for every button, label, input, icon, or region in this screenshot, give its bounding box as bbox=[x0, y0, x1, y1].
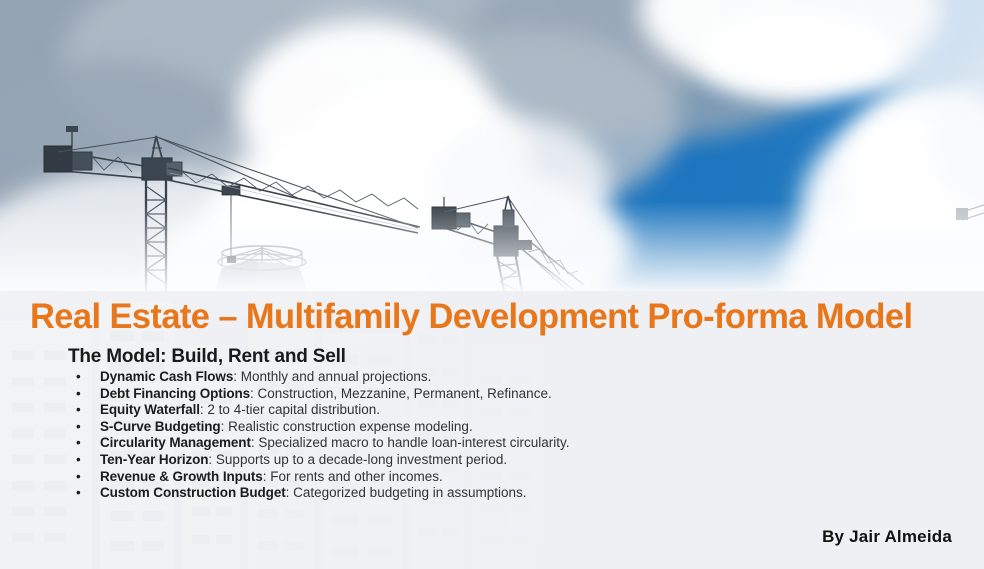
hero-image bbox=[0, 0, 984, 291]
list-item-rest: : Categorized budgeting in assumptions. bbox=[286, 485, 527, 500]
bullet-marker-icon: • bbox=[76, 452, 81, 469]
list-item: •Revenue & Growth Inputs: For rents and … bbox=[68, 469, 828, 486]
list-item-rest: : Monthly and annual projections. bbox=[233, 369, 431, 384]
author-byline: By Jair Almeida bbox=[822, 527, 952, 547]
list-item: •Debt Financing Options: Construction, M… bbox=[68, 386, 828, 403]
bullet-marker-icon: • bbox=[76, 469, 81, 486]
subtitle: The Model: Build, Rent and Sell bbox=[68, 346, 346, 368]
bullet-marker-icon: • bbox=[76, 419, 81, 436]
bullet-marker-icon: • bbox=[76, 386, 81, 403]
list-item-rest: : Specialized macro to handle loan-inter… bbox=[251, 435, 570, 450]
list-item: •Circularity Management: Specialized mac… bbox=[68, 435, 828, 452]
feature-list: •Dynamic Cash Flows: Monthly and annual … bbox=[68, 369, 828, 502]
list-item-lead: Circularity Management bbox=[100, 435, 251, 450]
list-item-lead: Revenue & Growth Inputs bbox=[100, 469, 263, 484]
presentation-slide: Real Estate – Multifamily Development Pr… bbox=[0, 0, 984, 569]
page-title: Real Estate – Multifamily Development Pr… bbox=[30, 299, 966, 334]
list-item: •S-Curve Budgeting: Realistic constructi… bbox=[68, 419, 828, 436]
bullet-marker-icon: • bbox=[76, 369, 81, 386]
bullet-marker-icon: • bbox=[76, 402, 81, 419]
list-item-lead: S-Curve Budgeting bbox=[100, 419, 221, 434]
list-item: •Custom Construction Budget: Categorized… bbox=[68, 485, 828, 502]
list-item-lead: Equity Waterfall bbox=[100, 402, 200, 417]
bullet-marker-icon: • bbox=[76, 485, 81, 502]
list-item-rest: : For rents and other incomes. bbox=[263, 469, 443, 484]
photo-bottom-haze bbox=[0, 201, 984, 291]
list-item: •Equity Waterfall: 2 to 4-tier capital d… bbox=[68, 402, 828, 419]
list-item-rest: : Construction, Mezzanine, Permanent, Re… bbox=[250, 386, 552, 401]
list-item-lead: Dynamic Cash Flows bbox=[100, 369, 233, 384]
list-item-lead: Custom Construction Budget bbox=[100, 485, 286, 500]
list-item: •Dynamic Cash Flows: Monthly and annual … bbox=[68, 369, 828, 386]
list-item-rest: : 2 to 4-tier capital distribution. bbox=[200, 402, 380, 417]
bullet-marker-icon: • bbox=[76, 435, 81, 452]
list-item-rest: : Realistic construction expense modelin… bbox=[221, 419, 473, 434]
list-item: •Ten-Year Horizon: Supports up to a deca… bbox=[68, 452, 828, 469]
list-item-lead: Debt Financing Options bbox=[100, 386, 250, 401]
list-item-rest: : Supports up to a decade-long investmen… bbox=[208, 452, 507, 467]
list-item-lead: Ten-Year Horizon bbox=[100, 452, 208, 467]
